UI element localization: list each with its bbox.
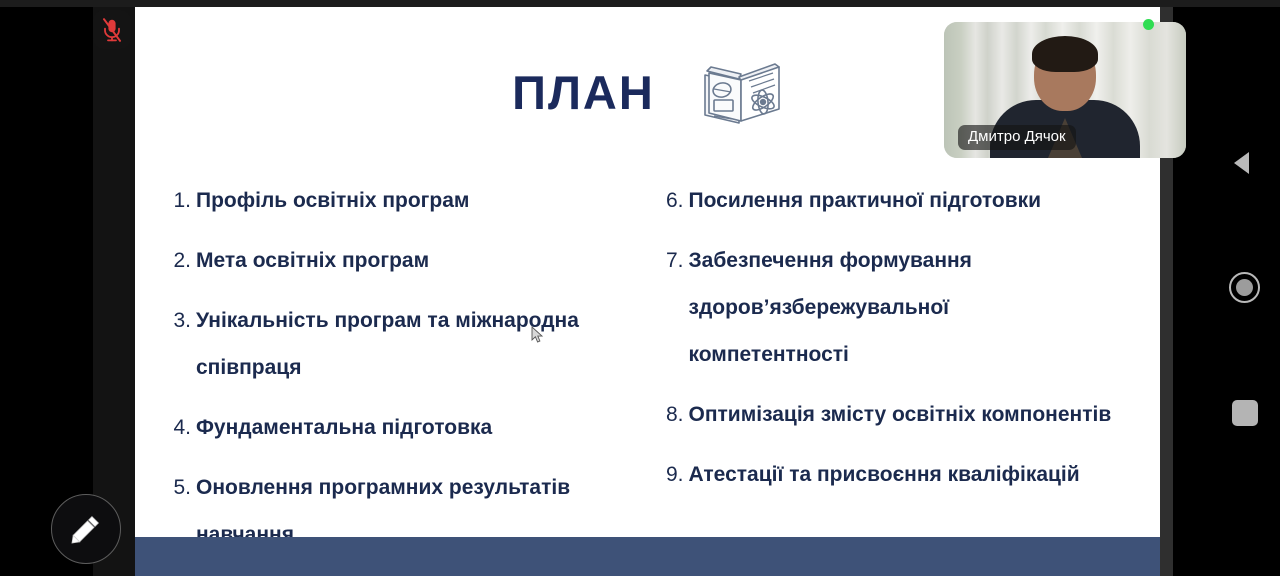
chrome-right-panel	[1173, 0, 1280, 576]
plan-left-column: 1. Профіль освітніх програм 2. Мета осві…	[135, 177, 648, 571]
pencil-icon	[70, 513, 102, 545]
list-item-label: Мета освітніх програм	[191, 237, 429, 284]
list-item: 1. Профіль освітніх програм	[163, 177, 648, 224]
annotate-fab-button[interactable]	[51, 494, 121, 564]
list-item-label: Забезпечення формування здоров’язбережув…	[684, 237, 1114, 378]
list-item-label: Посилення практичної підготовки	[684, 177, 1042, 224]
participant-name-badge: Дмитро Дячок	[958, 125, 1076, 150]
slide-footer-band	[135, 537, 1160, 576]
plan-right-column: 6. Посилення практичної підготовки 7. За…	[648, 177, 1161, 571]
list-item: 4. Фундаментальна підготовка	[163, 404, 648, 451]
list-item-number: 1.	[163, 177, 191, 224]
mute-button[interactable]	[93, 10, 131, 49]
list-item: 6. Посилення практичної підготовки	[656, 177, 1161, 224]
list-item: 3. Унікальність програм та міжнародна сп…	[163, 297, 648, 391]
chrome-top-strip	[0, 0, 1280, 7]
square-recents-icon[interactable]	[1232, 400, 1258, 426]
chrome-left-strip	[93, 0, 135, 576]
triangle-back-icon[interactable]	[1234, 152, 1249, 174]
list-item-number: 9.	[656, 451, 684, 498]
video-person-hair	[1032, 36, 1098, 72]
mouse-cursor	[531, 326, 544, 344]
list-item-label: Оптимізація змісту освітніх компонентів	[684, 391, 1112, 438]
list-item-number: 2.	[163, 237, 191, 284]
list-item-number: 5.	[163, 464, 191, 511]
open-book-atom-icon	[701, 55, 783, 129]
list-item: 9. Атестації та присвоєння кваліфікацій	[656, 451, 1161, 498]
list-item: 8. Оптимізація змісту освітніх компонент…	[656, 391, 1161, 438]
plan-list: 1. Профіль освітніх програм 2. Мета осві…	[135, 177, 1160, 571]
list-item-number: 3.	[163, 297, 191, 344]
list-item-number: 4.	[163, 404, 191, 451]
list-item-number: 7.	[656, 237, 684, 284]
page-title: ПЛАН	[512, 69, 655, 116]
list-item-label: Фундаментальна підготовка	[191, 404, 492, 451]
list-item-number: 6.	[656, 177, 684, 224]
chrome-left-panel	[0, 0, 93, 576]
microphone-off-icon	[101, 18, 123, 42]
list-item-label: Профіль освітніх програм	[191, 177, 469, 224]
list-item-label: Унікальність програм та міжнародна співп…	[191, 297, 621, 391]
list-item-number: 8.	[656, 391, 684, 438]
status-badge	[1143, 19, 1154, 30]
list-item: 7. Забезпечення формування здоров’язбере…	[656, 237, 1161, 378]
list-item-label: Атестації та присвоєння кваліфікацій	[684, 451, 1080, 498]
circle-home-icon[interactable]	[1229, 272, 1260, 303]
list-item: 2. Мета освітніх програм	[163, 237, 648, 284]
screen-root: ПЛАН	[0, 0, 1280, 576]
participant-video-tile[interactable]: Дмитро Дячок	[944, 22, 1186, 158]
